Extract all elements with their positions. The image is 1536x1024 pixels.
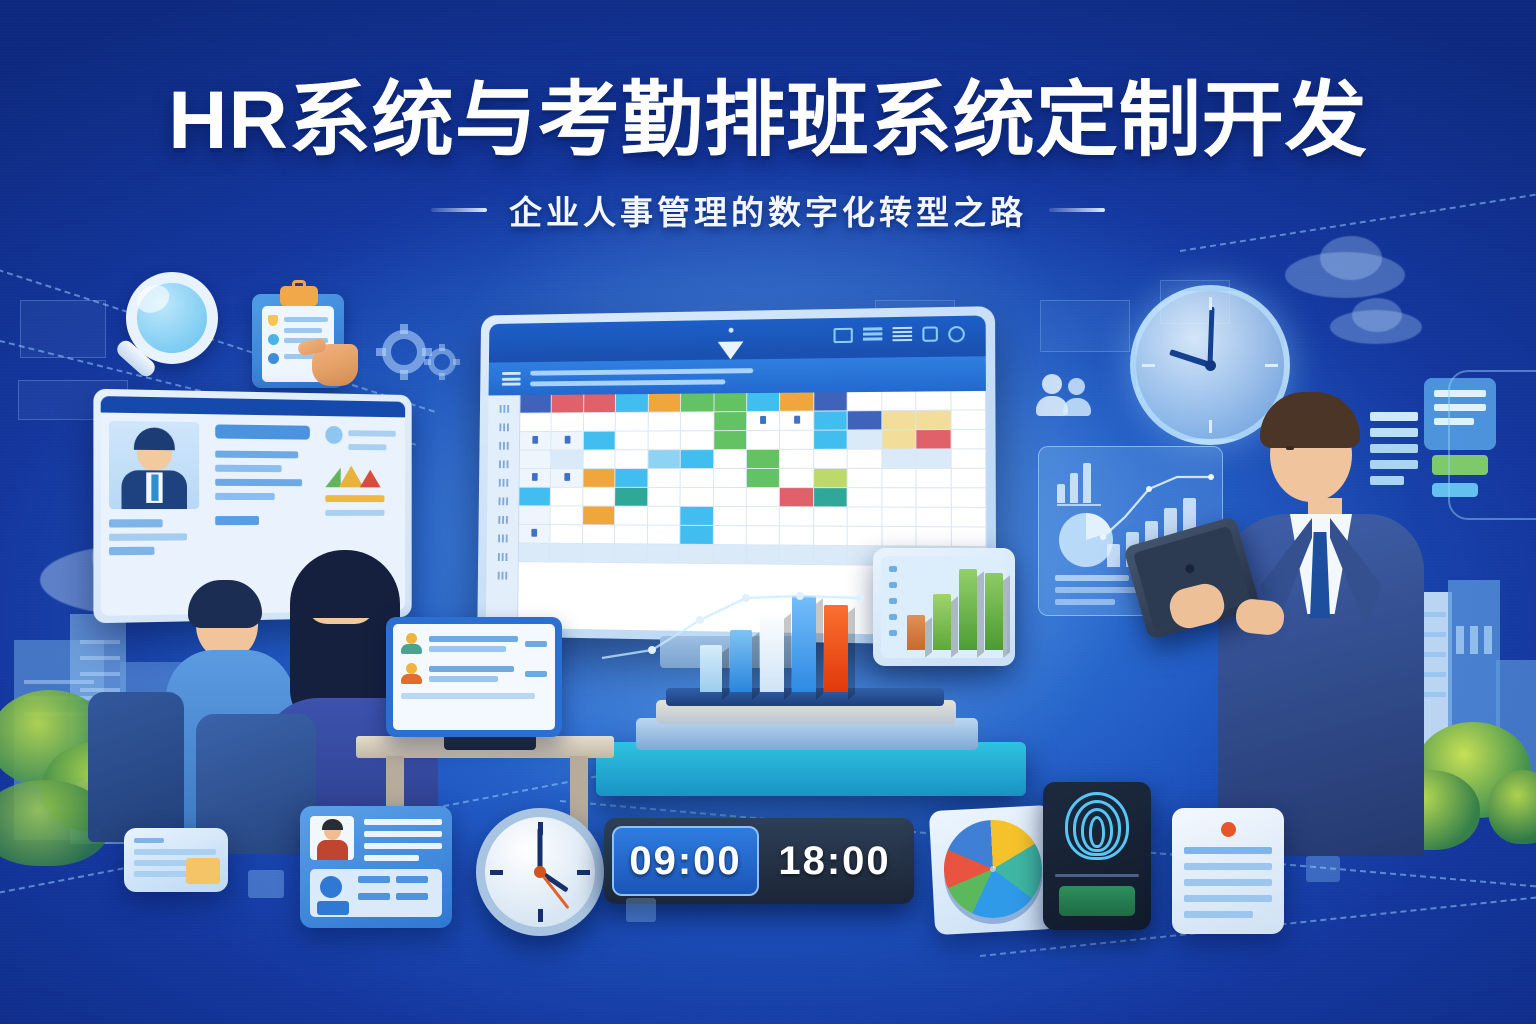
banner-headline-block: HR系统与考勤排班系统定制开发 企业人事管理的数字化转型之路 (0, 78, 1536, 234)
schedule-cell[interactable] (714, 469, 747, 488)
panel-icon[interactable] (922, 326, 938, 341)
schedule-cell[interactable] (648, 450, 681, 469)
schedule-cell[interactable] (814, 469, 848, 488)
folder-icon (626, 898, 656, 922)
schedule-cell[interactable] (616, 394, 649, 413)
schedule-cell[interactable] (848, 507, 882, 526)
schedule-cell[interactable] (714, 393, 747, 412)
cell-marker (760, 416, 766, 424)
schedule-cell[interactable] (917, 488, 952, 508)
schedule-cell[interactable] (780, 392, 814, 411)
schedule-cell[interactable] (780, 469, 814, 488)
schedule-cell[interactable] (680, 545, 713, 564)
schedule-cell[interactable] (951, 469, 986, 489)
schedule-cell[interactable] (848, 392, 882, 411)
decor-panel (1040, 300, 1130, 352)
schedule-cell[interactable] (713, 507, 746, 526)
schedule-cell[interactable] (747, 412, 780, 431)
schedule-cell[interactable] (848, 430, 882, 449)
schedule-cell[interactable] (917, 449, 952, 468)
fingerprint-scanner[interactable] (1043, 782, 1151, 930)
chevron-down-icon (718, 341, 744, 359)
schedule-cell[interactable] (848, 411, 882, 430)
schedule-cell[interactable] (615, 507, 648, 526)
schedule-cell[interactable] (814, 411, 848, 430)
list-dense-icon[interactable] (893, 327, 913, 342)
schedule-cell[interactable] (681, 450, 714, 469)
folder-icon (248, 870, 284, 898)
schedule-cell[interactable] (520, 395, 552, 414)
schedule-cell[interactable] (519, 525, 551, 544)
schedule-cell[interactable] (648, 469, 681, 488)
employee-list-screen (393, 624, 555, 730)
employee-photo (310, 816, 354, 860)
schedule-cell[interactable] (551, 544, 583, 563)
schedule-cell[interactable] (814, 527, 848, 547)
schedule-cell[interactable] (814, 488, 848, 507)
schedule-cell[interactable] (780, 546, 814, 566)
schedule-cell[interactable] (780, 450, 814, 469)
employee-list-monitor[interactable] (386, 617, 562, 737)
note-pin-dot (1221, 822, 1236, 837)
schedule-cell[interactable] (648, 526, 681, 545)
office-chair (88, 692, 184, 842)
schedule-cell[interactable] (616, 413, 649, 432)
trendline-overlay (596, 572, 926, 682)
document-icon[interactable] (124, 828, 228, 892)
schedule-cell[interactable] (814, 431, 848, 450)
decor-panel (20, 300, 106, 358)
schedule-cell[interactable] (551, 469, 583, 488)
schedule-cell[interactable] (951, 527, 986, 547)
schedule-cell[interactable] (648, 431, 681, 450)
schedule-cell[interactable] (520, 432, 552, 451)
folder-icon (1306, 856, 1340, 882)
schedule-cell[interactable] (882, 488, 917, 507)
schedule-cell[interactable] (681, 412, 714, 431)
schedule-cell[interactable] (649, 394, 682, 413)
schedule-cell[interactable] (648, 413, 681, 432)
note-document-icon[interactable] (1172, 808, 1284, 934)
circle-icon[interactable] (948, 326, 965, 343)
id-card-icon[interactable] (300, 806, 452, 928)
schedule-cell[interactable] (882, 392, 916, 412)
schedule-cell[interactable] (520, 451, 552, 470)
schedule-cell[interactable] (882, 450, 916, 469)
schedule-cell[interactable] (882, 469, 916, 488)
schedule-cell[interactable] (519, 488, 551, 507)
clipboard-checklist-icon (250, 284, 360, 392)
page-title: HR系统与考勤排班系统定制开发 (0, 78, 1536, 164)
schedule-cell[interactable] (615, 544, 648, 563)
cell-marker (532, 529, 538, 537)
schedule-cell[interactable] (882, 527, 917, 547)
platform-base (596, 742, 1026, 796)
schedule-cell[interactable] (583, 525, 615, 544)
schedule-cell[interactable] (552, 413, 584, 432)
schedule-cell[interactable] (648, 488, 681, 507)
schedule-cell[interactable] (680, 507, 713, 526)
schedule-cell[interactable] (814, 450, 848, 469)
cell-marker (533, 436, 539, 444)
mini-area-chart (325, 465, 392, 487)
layout-icon[interactable] (834, 328, 853, 343)
monitor-menubar[interactable] (489, 356, 986, 395)
schedule-cell[interactable] (615, 488, 648, 507)
schedule-cell[interactable] (882, 430, 916, 449)
schedule-cell[interactable] (680, 526, 713, 545)
schedule-cell[interactable] (616, 431, 649, 450)
schedule-cell[interactable] (681, 469, 714, 488)
schedule-cell[interactable] (584, 394, 616, 413)
schedule-cell[interactable] (552, 395, 584, 414)
schedule-cell[interactable] (583, 469, 615, 488)
schedule-cell[interactable] (583, 488, 615, 507)
schedule-cell[interactable] (714, 450, 747, 469)
gear-small-icon (428, 348, 456, 376)
schedule-cell[interactable] (814, 392, 848, 411)
cloud-icon (1320, 236, 1382, 280)
schedule-cell[interactable] (780, 412, 814, 431)
schedule-cell[interactable] (747, 488, 781, 507)
list-item-avatar (401, 633, 422, 654)
subtitle-rule-right (1049, 208, 1105, 212)
schedule-cell[interactable] (616, 450, 649, 469)
menu-icon[interactable] (502, 372, 521, 386)
schedule-cell[interactable] (848, 469, 882, 488)
document-badge (186, 858, 220, 884)
schedule-cell[interactable] (713, 545, 746, 564)
schedule-cell[interactable] (848, 488, 882, 507)
schedule-cell[interactable] (814, 546, 848, 566)
cloud-icon (1352, 298, 1402, 332)
schedule-cell[interactable] (584, 413, 616, 432)
schedule-cell[interactable] (520, 413, 552, 432)
schedule-cell[interactable] (747, 450, 780, 469)
schedule-cell[interactable] (551, 525, 583, 544)
schedule-cell[interactable] (780, 488, 814, 507)
schedule-cell[interactable] (848, 450, 882, 469)
decor-rounded-trace (1448, 370, 1536, 520)
pie-chart-icon[interactable] (929, 805, 1057, 935)
holo-small-bars (1057, 461, 1105, 503)
schedule-cell[interactable] (780, 526, 814, 545)
scanner-confirm-button[interactable] (1059, 886, 1135, 916)
schedule-cell[interactable] (747, 507, 781, 526)
users-icon (1036, 372, 1104, 418)
magnifier-icon (118, 272, 230, 392)
schedule-cell[interactable] (615, 525, 648, 544)
cell-marker (532, 473, 538, 481)
banner-canvas: HR系统与考勤排班系统定制开发 企业人事管理的数字化转型之路 (0, 0, 1536, 1024)
schedule-cell[interactable] (551, 450, 583, 469)
schedule-cell[interactable] (747, 431, 780, 450)
schedule-cell[interactable] (681, 393, 714, 412)
schedule-cell[interactable] (882, 411, 916, 430)
schedule-cell[interactable] (713, 526, 746, 545)
schedule-cell[interactable] (583, 450, 615, 469)
schedule-cell[interactable] (681, 431, 714, 450)
subtitle-rule-left (431, 208, 487, 212)
schedule-cell[interactable] (747, 545, 781, 564)
schedule-cell[interactable] (951, 430, 986, 450)
schedule-cell[interactable] (917, 508, 952, 528)
schedule-cell[interactable] (647, 544, 680, 563)
schedule-cell[interactable] (584, 432, 616, 451)
schedule-cell[interactable] (951, 449, 986, 469)
cell-marker (564, 436, 570, 444)
grid-row-headers (486, 395, 521, 628)
schedule-cell[interactable] (917, 430, 952, 450)
subtitle-block: 企业人事管理的数字化转型之路 (0, 186, 1536, 234)
shift-time-display[interactable]: 09:00 18:00 (604, 818, 914, 904)
schedule-cell[interactable] (616, 469, 649, 488)
schedule-cell[interactable] (714, 412, 747, 431)
schedule-cell[interactable] (551, 506, 583, 525)
schedule-cell[interactable] (520, 469, 552, 488)
schedule-cell[interactable] (747, 469, 781, 488)
schedule-cell[interactable] (917, 527, 952, 547)
clock-hand-minute (1208, 307, 1215, 365)
schedule-cell[interactable] (583, 506, 615, 525)
schedule-cell[interactable] (552, 432, 584, 451)
schedule-cell[interactable] (916, 411, 951, 431)
schedule-cell[interactable] (519, 543, 551, 562)
gear-icon (382, 330, 426, 374)
page-subtitle: 企业人事管理的数字化转型之路 (509, 186, 1027, 234)
schedule-cell[interactable] (648, 507, 681, 526)
monitor-topbar (489, 315, 986, 362)
schedule-cell[interactable] (917, 469, 952, 488)
fingerprint-icon (1065, 792, 1129, 862)
schedule-cell[interactable] (714, 488, 747, 507)
list-item-avatar (401, 663, 422, 684)
schedule-cell[interactable] (951, 410, 986, 430)
schedule-cell[interactable] (882, 508, 917, 528)
schedule-cell[interactable] (714, 431, 747, 450)
schedule-cell[interactable] (519, 506, 551, 525)
schedule-cell[interactable] (951, 391, 986, 411)
schedule-cell[interactable] (747, 526, 781, 545)
schedule-cell[interactable] (916, 391, 951, 411)
schedule-cell[interactable] (551, 488, 583, 507)
shift-end-time: 18:00 (763, 826, 906, 896)
schedule-cell[interactable] (951, 508, 986, 528)
schedule-cell[interactable] (814, 507, 848, 526)
shift-start-time: 09:00 (612, 826, 759, 896)
schedule-cell[interactable] (848, 527, 882, 547)
list-icon[interactable] (863, 327, 882, 342)
cell-marker (564, 473, 570, 481)
schedule-cell[interactable] (951, 488, 986, 508)
analog-clock-icon (476, 808, 604, 936)
schedule-cell[interactable] (780, 507, 814, 526)
cell-marker (794, 416, 800, 424)
schedule-cell[interactable] (747, 393, 780, 412)
schedule-cell[interactable] (583, 544, 615, 563)
avatar (109, 421, 199, 509)
schedule-cell[interactable] (780, 431, 814, 450)
schedule-cell[interactable] (681, 488, 714, 507)
